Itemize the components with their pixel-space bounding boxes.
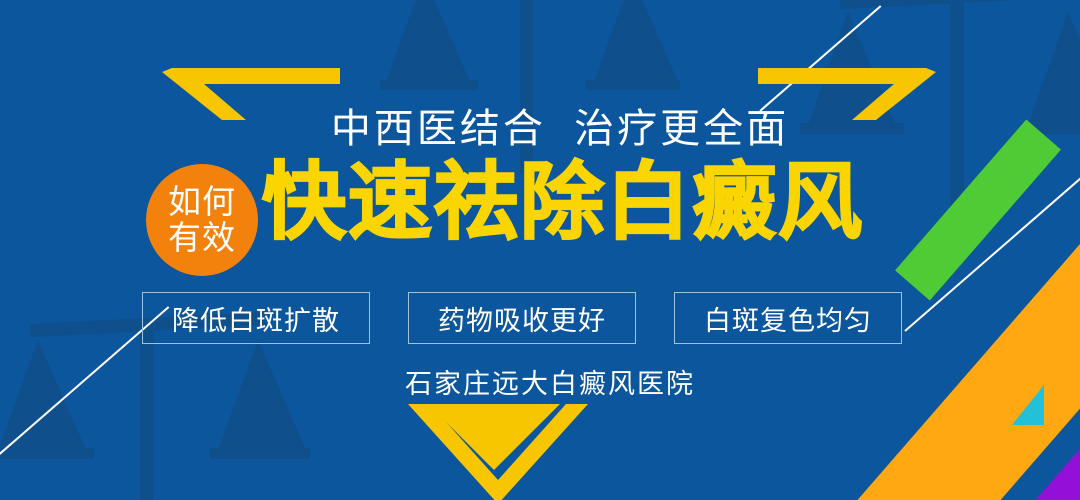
promo-banner: 中西医结合 治疗更全面 如何 有效 快速祛除白癜风 降低白斑扩散 药物吸收更好 … [0,0,1080,500]
banner-subtitle: 中西医结合 治疗更全面 [0,96,1080,154]
feature-label: 药物吸收更好 [438,299,606,338]
hospital-name: 石家庄远大白癜风医院 [0,362,1080,401]
badge-line-1: 如何 [168,184,236,220]
how-effective-badge: 如何 有效 [146,164,258,276]
purple-diagonal-band [981,411,1080,500]
feature-label: 白斑复色均匀 [704,299,872,338]
feature-list: 降低白斑扩散 药物吸收更好 白斑复色均匀 [142,292,902,344]
triangle-down-icon [428,404,560,470]
feature-item-1: 降低白斑扩散 [142,292,370,344]
banner-headline: 快速祛除白癜风 [262,160,864,244]
feature-item-3: 白斑复色均匀 [674,292,902,344]
badge-line-2: 有效 [168,220,236,256]
chevron-down-outline-icon [408,404,588,500]
feature-item-2: 药物吸收更好 [408,292,636,344]
feature-label: 降低白斑扩散 [172,299,340,338]
